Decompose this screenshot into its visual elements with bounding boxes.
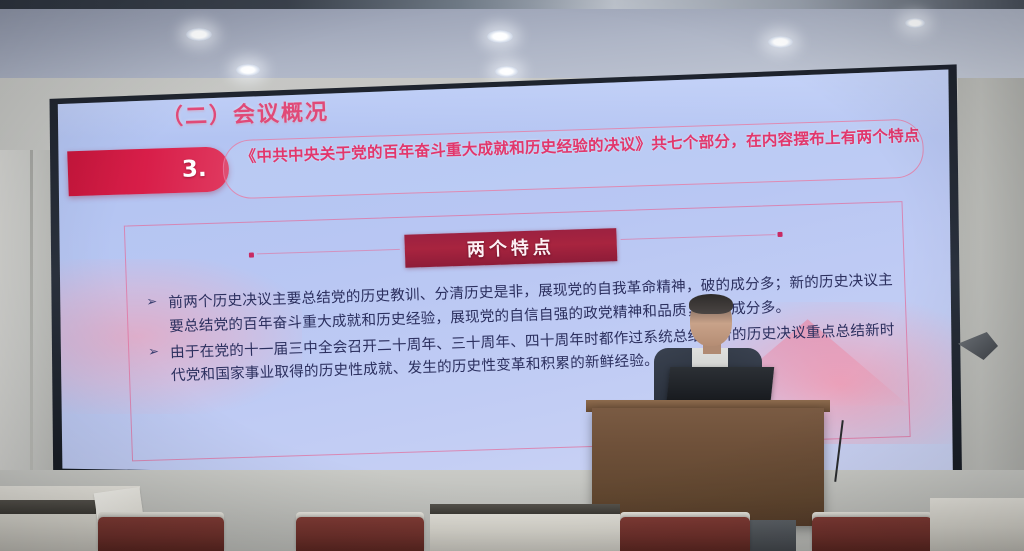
front-desk-far-right xyxy=(930,498,1024,551)
led-display-screen[interactable]: （二）会议概况 3. 《中共中央关于党的百年奋斗重大成就和历史经验的决议》共七个… xyxy=(44,60,964,492)
chair-back xyxy=(296,517,424,551)
ceiling-trim-strip xyxy=(0,0,1024,9)
frame-accent-dot-right xyxy=(777,232,782,237)
chair-back xyxy=(812,517,932,551)
podium xyxy=(592,408,824,526)
left-wall-seam xyxy=(30,150,33,490)
ceiling-downlight xyxy=(768,36,793,48)
ceiling-downlight xyxy=(905,18,925,28)
arrow-bullet-icon: ➢ xyxy=(146,292,158,313)
section-banner-label: 两个特点 xyxy=(466,233,555,262)
ceiling-downlight xyxy=(186,28,212,41)
slide-title: （二）会议概况 xyxy=(160,94,329,131)
arrow-bullet-icon: ➢ xyxy=(148,341,160,362)
section-number-label: 3. xyxy=(181,156,207,183)
chair-back xyxy=(620,517,750,551)
presenter-hair xyxy=(689,294,733,314)
front-desk-left-edge xyxy=(0,500,96,514)
front-desk-right-edge xyxy=(430,504,620,514)
ceiling-downlight xyxy=(487,30,513,43)
presentation-slide: （二）会议概况 3. 《中共中央关于党的百年奋斗重大成就和历史经验的决议》共七个… xyxy=(44,60,964,492)
section-number-badge: 3. xyxy=(67,146,230,197)
frame-accent-dot-left xyxy=(249,252,254,257)
chair-back xyxy=(98,517,224,551)
section-banner: 两个特点 xyxy=(404,228,617,267)
lecture-hall-scene: （二）会议概况 3. 《中共中央关于党的百年奋斗重大成就和历史经验的决议》共七个… xyxy=(0,0,1024,551)
screen-panel: （二）会议概况 3. 《中共中央关于党的百年奋斗重大成就和历史经验的决议》共七个… xyxy=(44,60,964,492)
